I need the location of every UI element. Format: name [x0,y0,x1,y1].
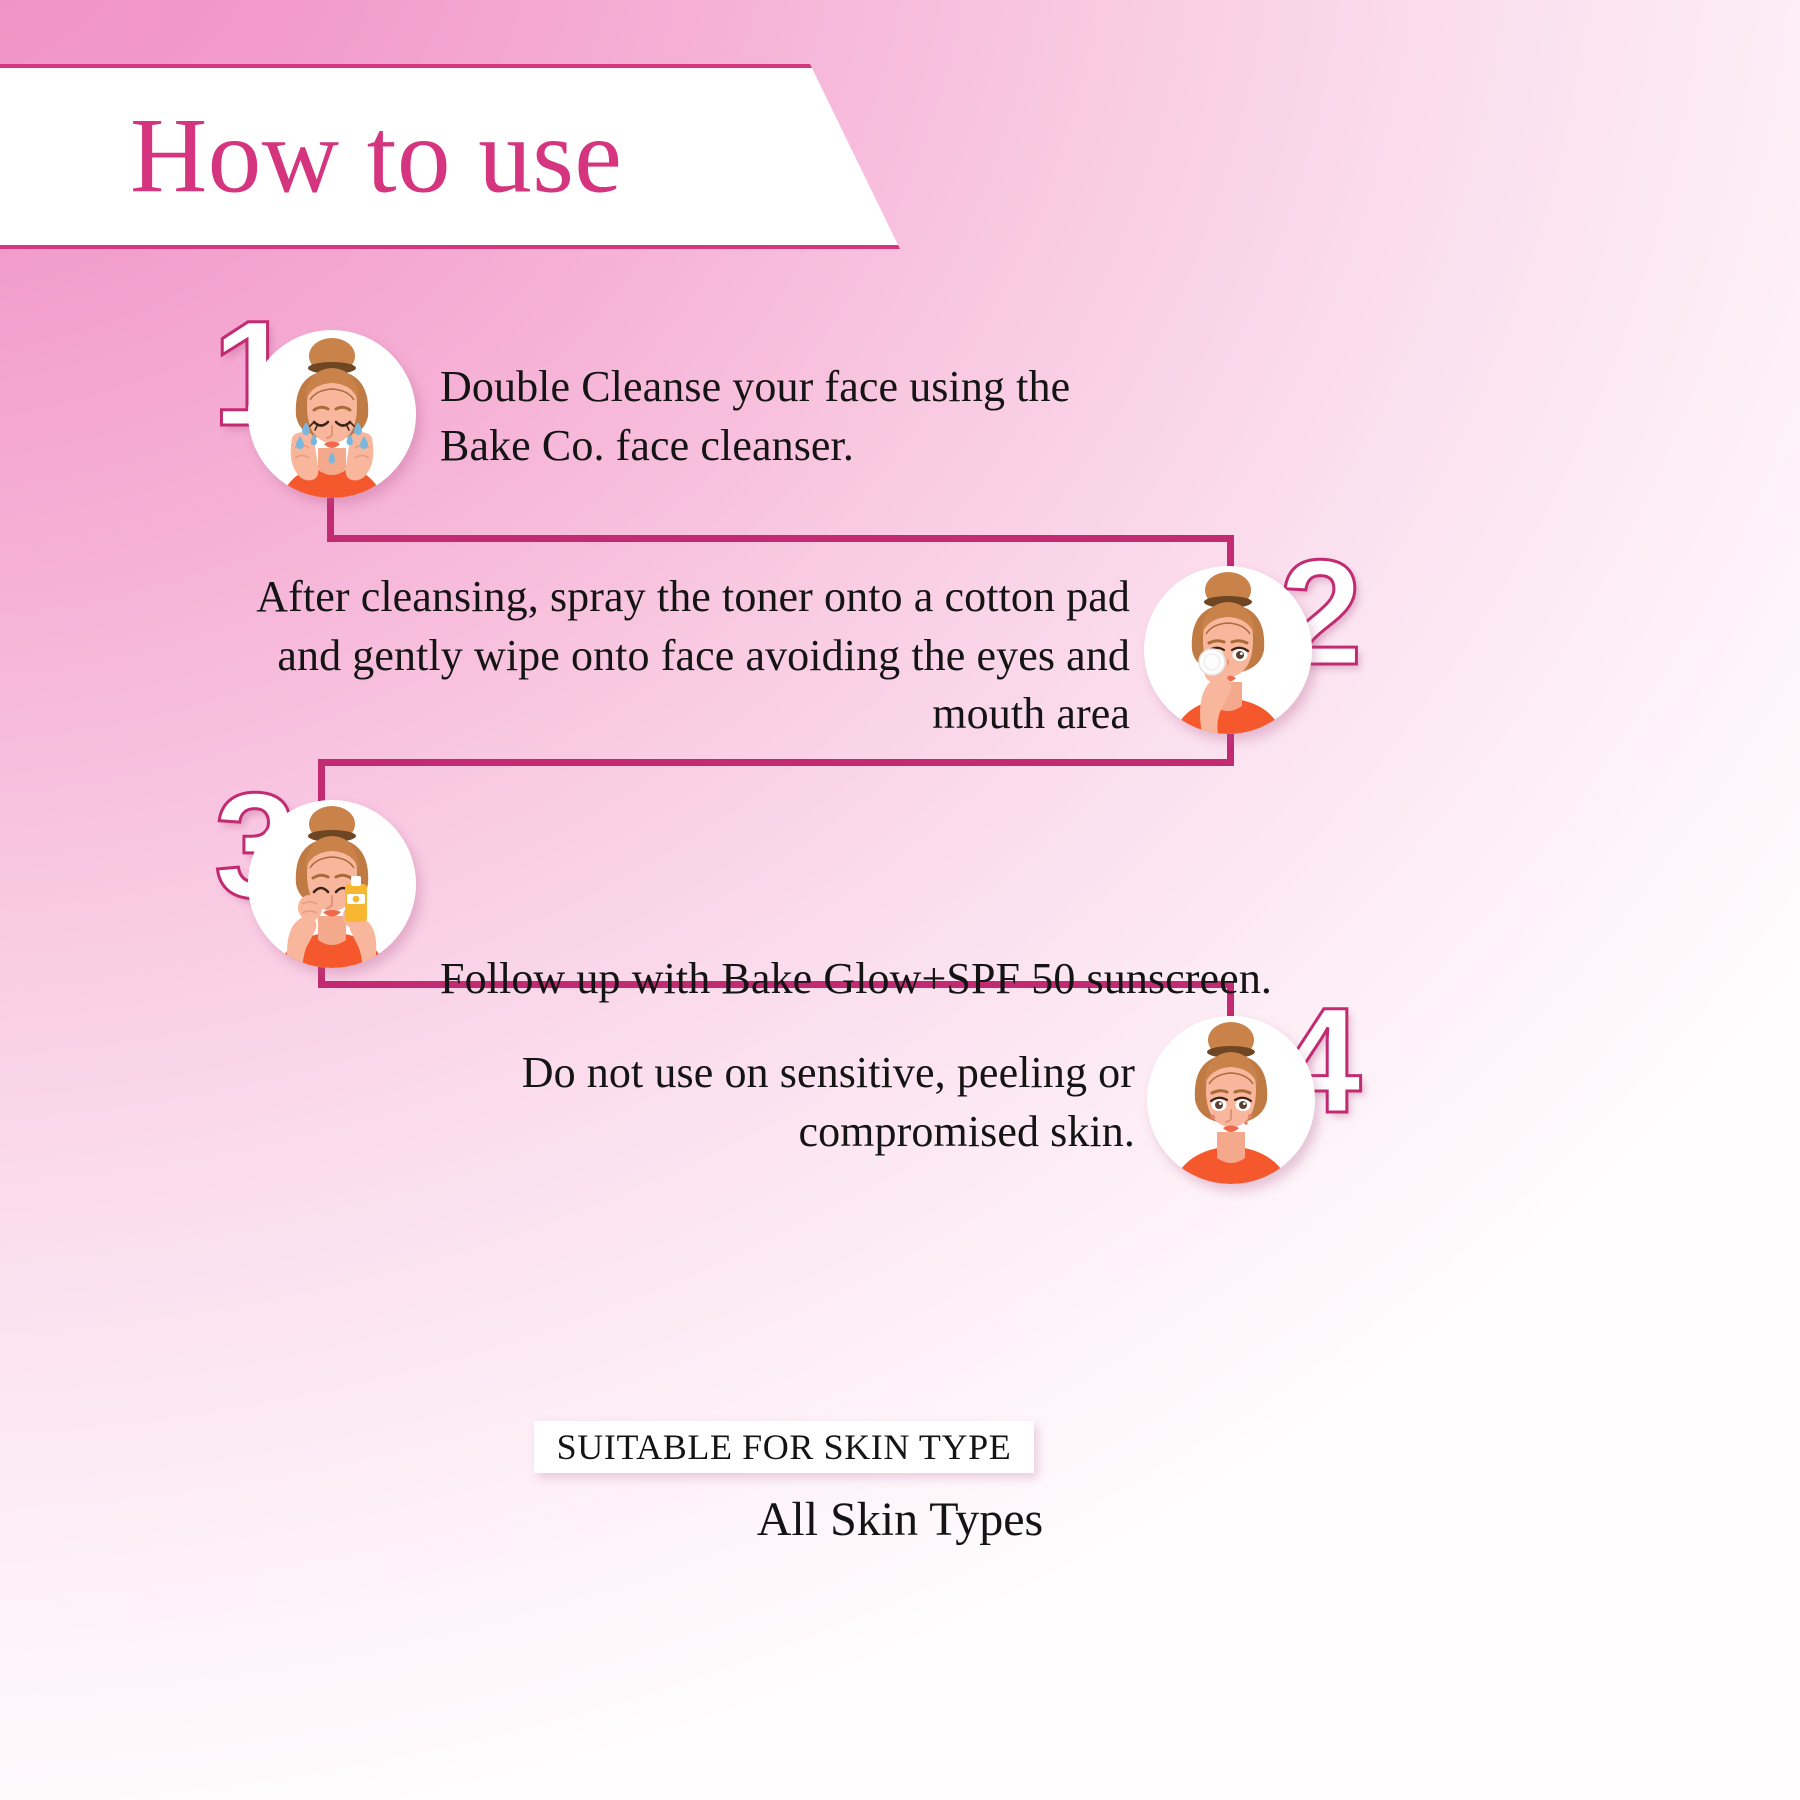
suitable-for-skin-type-label: SUITABLE FOR SKIN TYPE [557,1426,1012,1468]
step-text-2: After cleansing, spray the toner onto a … [250,568,1130,744]
woman-sunscreen-tube-icon [248,800,416,968]
infographic-canvas: How to use 1 [0,0,1800,1800]
connector-2-horizontal [318,759,1234,766]
step-text-4: Do not use on sensitive, peeling or comp… [360,1044,1135,1161]
woman-washing-face-icon [248,330,416,498]
page-title: How to use [130,103,622,210]
step-text-1: Double Cleanse your face using the Bake … [440,358,1160,475]
skin-type-value: All Skin Types [0,1492,1800,1547]
suitable-for-skin-type-box: SUITABLE FOR SKIN TYPE [534,1421,1034,1473]
step-text-3: Follow up with Bake Glow+SPF 50 sunscree… [440,950,1370,1009]
woman-face-icon [1147,1016,1315,1184]
title-banner: How to use [0,64,910,249]
connector-1-horizontal [327,535,1234,542]
woman-cotton-pad-icon [1144,566,1312,734]
